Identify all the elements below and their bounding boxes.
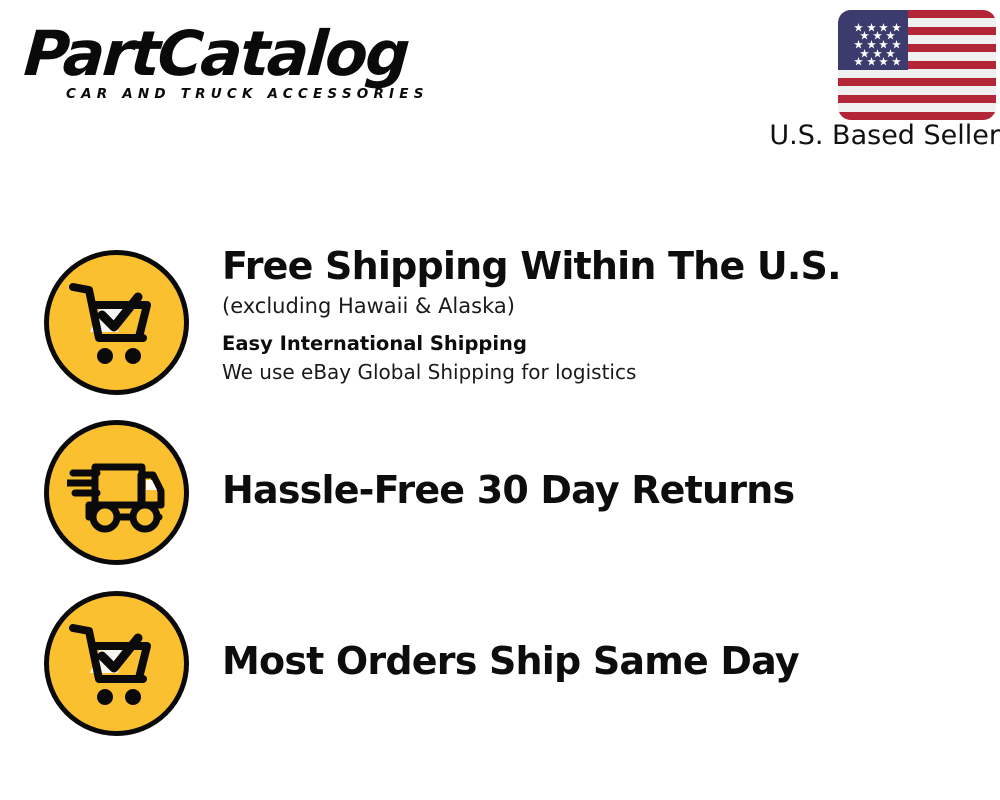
feature-title: Free Shipping Within The U.S.	[222, 244, 992, 288]
flag-stripe	[838, 69, 996, 77]
feature-text-block: Free Shipping Within The U.S. (excluding…	[222, 244, 992, 387]
banner-header: PartCatalog CAR AND TRUCK ACCESSORIES	[0, 0, 1000, 175]
brand-logo-wordmark: PartCatalog	[22, 20, 497, 88]
brand-logo: PartCatalog CAR AND TRUCK ACCESSORIES	[22, 20, 492, 102]
feature-note: We use eBay Global Shipping for logistic…	[222, 358, 992, 387]
shopping-cart-check-icon	[44, 591, 189, 736]
us-flag-graphic	[838, 10, 996, 120]
flag-stripe	[838, 95, 996, 103]
feature-title: Hassle-Free 30 Day Returns	[222, 468, 992, 512]
feature-row: Most Orders Ship Same Day	[0, 591, 1000, 763]
us-based-seller-label: U.S. Based Seller	[722, 120, 1000, 152]
us-flag-icon	[838, 10, 996, 120]
flag-canton	[838, 10, 908, 70]
shopping-cart-check-icon	[44, 250, 189, 395]
feature-subtitle: (excluding Hawaii & Alaska)	[222, 291, 992, 321]
feature-row: Free Shipping Within The U.S. (excluding…	[0, 248, 1000, 420]
flag-stripe	[838, 103, 996, 111]
feature-text-block: Most Orders Ship Same Day	[222, 639, 992, 683]
flag-stripe	[838, 112, 996, 120]
feature-title: Most Orders Ship Same Day	[222, 639, 992, 683]
flag-stripe	[838, 78, 996, 86]
delivery-truck-icon	[44, 420, 189, 565]
flag-stripe	[838, 86, 996, 94]
feature-row: Hassle-Free 30 Day Returns	[0, 420, 1000, 591]
feature-strong: Easy International Shipping	[222, 330, 992, 358]
promo-banner: PartCatalog CAR AND TRUCK ACCESSORIES	[0, 0, 1000, 800]
feature-text-block: Hassle-Free 30 Day Returns	[222, 468, 992, 512]
